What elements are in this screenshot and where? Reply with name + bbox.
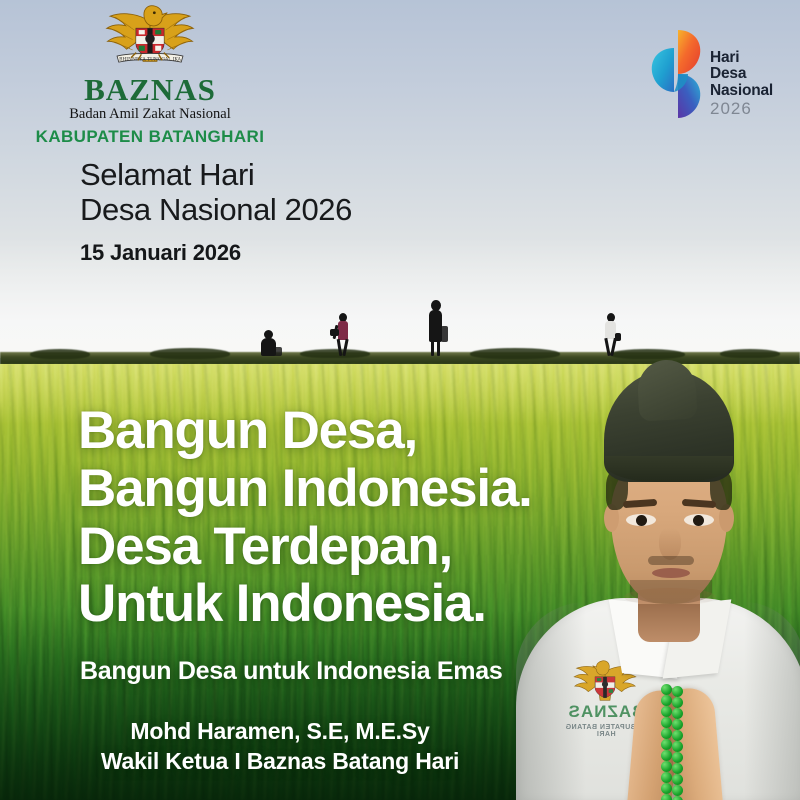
horizon-figure-sitting [258,330,280,356]
greeting-date: 15 Januari 2026 [80,240,352,266]
garuda-pancasila-icon: BHINNEKA TUNGGAL IKA [98,2,202,72]
pupil-right [693,515,704,526]
horizon-figure-walking-pink [333,313,353,356]
hari-desa-nasional-logo: Hari Desa Nasional 2026 [648,28,788,128]
baznas-region: KABUPATEN BATANGHARI [0,127,300,147]
baznas-brand-block: BHINNEKA TUNGGAL IKA BAZNAS Badan Amil Z… [0,2,300,147]
horizon-figure-walking-white [601,313,621,356]
signature-title: Wakil Ketua I Baznas Batang Hari [0,746,560,776]
tasbih-prayer-beads [661,684,683,800]
headline-block: Bangun Desa, Bangun Indonesia. Desa Terd… [78,402,532,633]
horizon-figure-standing [424,300,446,356]
baznas-wordmark: BAZNAS [0,74,300,105]
pupil-left [636,515,647,526]
songkok-cap-peak [636,359,697,422]
poster-canvas: BHINNEKA TUNGGAL IKA BAZNAS Badan Amil Z… [0,0,800,800]
greeting-line-1: Selamat Hari [80,157,352,192]
neck-shadow [638,604,700,642]
hdn-year: 2026 [710,100,773,119]
chin-shadow [624,588,716,606]
hdn-line-1: Hari [710,50,773,66]
greeting-block: Selamat Hari Desa Nasional 2026 15 Janua… [80,157,352,266]
hdn-line-3: Nasional [710,83,773,99]
signature-block: Mohd Haramen, S.E, M.E.Sy Wakil Ketua I … [0,716,560,777]
moustache [648,556,694,565]
greeting-line-2: Desa Nasional 2026 [80,192,352,227]
headline-line-3: Desa Terdepan, [78,518,532,576]
mouth [652,568,690,578]
shirt-shadow-right [744,602,800,800]
headline-line-2: Bangun Indonesia. [78,460,532,518]
hdn-line-2: Desa [710,66,773,82]
person-photo: BAZNAS KABUPATEN BATANG HARI [520,352,800,800]
subheadline: Bangun Desa untuk Indonesia Emas [80,657,502,686]
hari-desa-nasional-text: Hari Desa Nasional 2026 [710,50,773,119]
svg-text:BHINNEKA TUNGGAL IKA: BHINNEKA TUNGGAL IKA [119,57,182,63]
signature-name: Mohd Haramen, S.E, M.E.Sy [0,716,560,746]
headline-line-1: Bangun Desa, [78,402,532,460]
baznas-subtitle: Badan Amil Zakat Nasional [0,107,300,123]
headline-line-4: Untuk Indonesia. [78,575,532,633]
hari-desa-nasional-s-mark-icon [648,28,704,120]
